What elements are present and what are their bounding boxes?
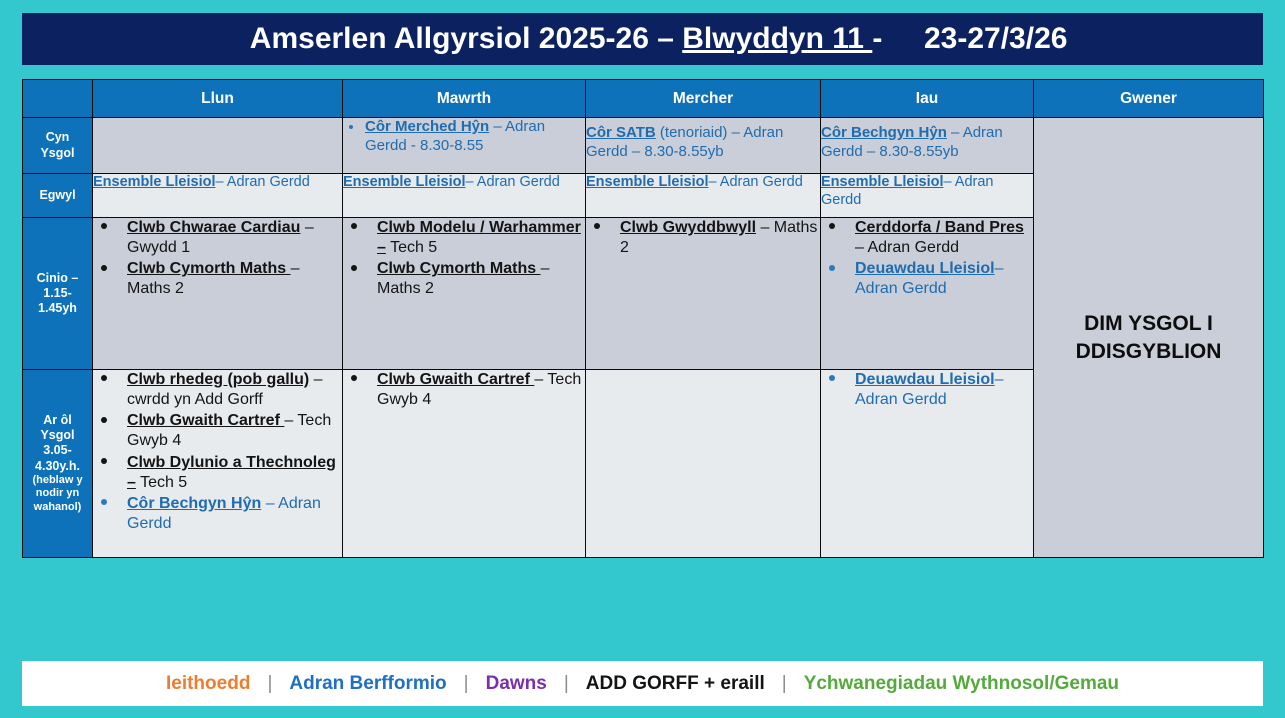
cell-ar-ol-ysgol-monday[interactable]: Clwb rhedeg (pob gallu) – cwrdd yn Add G… [93,370,343,558]
activity-name: Deuawdau Lleisiol [855,260,995,277]
activity-name: Ensemble Lleisiol [821,174,944,190]
cell-egwyl-thursday[interactable]: Ensemble Lleisiol– Adran Gerdd [821,174,1034,218]
bullet-icon [101,265,107,271]
list-item[interactable]: Clwb Gwyddbwyll – Maths 2 [586,218,820,258]
activity-name: Clwb Gwaith Cartref [377,371,534,388]
list-item[interactable]: Côr Merched Hŷn – Adran Gerdd - 8.30-8.5… [343,118,585,156]
cell-ar-ol-ysgol-thursday[interactable]: Deuawdau Lleisiol– Adran Gerdd [821,370,1034,558]
title-part-2: - [872,22,890,55]
timetable: Llun Mawrth Mercher Iau Gwener Cyn Ysgol… [22,79,1264,558]
activity-name: Côr Bechgyn Hŷn [821,124,947,141]
activity-detail: – Adran Gerdd [216,174,310,190]
row-label-line: Ar ôl [23,413,92,428]
list-item[interactable]: Clwb rhedeg (pob gallu) – cwrdd yn Add G… [93,370,342,410]
row-label-line: Ysgol [23,146,92,161]
activity-list: Côr Merched Hŷn – Adran Gerdd - 8.30-8.5… [343,118,585,156]
list-item[interactable]: Deuawdau Lleisiol– Adran Gerdd [821,370,1033,410]
cell-ar-ol-ysgol-wednesday[interactable] [586,370,821,558]
page-title: Amserlen Allgyrsiol 2025-26 – Blwyddyn 1… [218,0,1068,90]
title-year-group: Blwyddyn 11 [682,22,872,55]
activity-name: Clwb Cymorth Maths [127,260,291,277]
bullet-icon [351,375,357,381]
row-label-note-line: (heblaw y [23,474,92,487]
activity-list: Clwb Chwarae Cardiau – Gwydd 1 Clwb Cymo… [93,218,342,300]
row-label-line: 1.15- [23,286,92,301]
activity-list: Clwb Gwyddbwyll – Maths 2 [586,218,820,258]
bullet-icon [351,265,357,271]
header-corner-blank [23,80,93,118]
cell-egwyl-monday[interactable]: Ensemble Lleisiol– Adran Gerdd [93,174,343,218]
cell-egwyl-tuesday[interactable]: Ensemble Lleisiol– Adran Gerdd [343,174,586,218]
cell-egwyl-wednesday[interactable]: Ensemble Lleisiol– Adran Gerdd [586,174,821,218]
bullet-icon [101,458,107,464]
cell-friday-no-school: DIM YSGOL I DDISGYBLION [1034,118,1264,558]
page-title-bar: Amserlen Allgyrsiol 2025-26 – Blwyddyn 1… [22,13,1263,65]
bullet-icon [349,125,353,129]
bullet-icon [829,265,835,271]
activity-entry[interactable]: Ensemble Lleisiol– Adran Gerdd [343,174,585,192]
bullet-icon [101,499,107,505]
legend-item-ychwanegiadau[interactable]: Ychwanegiadau Wythnosol/Gemau [804,673,1119,695]
cell-cyn-ysgol-tuesday[interactable]: Côr Merched Hŷn – Adran Gerdd - 8.30-8.5… [343,118,586,174]
cell-cinio-monday[interactable]: Clwb Chwarae Cardiau – Gwydd 1 Clwb Cymo… [93,218,343,370]
activity-detail: – Adran Gerdd [466,174,560,190]
bullet-icon [594,223,600,229]
column-header-monday: Llun [93,80,343,118]
bullet-icon [101,375,107,381]
activity-entry[interactable]: Ensemble Lleisiol– Adran Gerdd [586,174,820,192]
row-label-line: Cyn [23,130,92,145]
row-label-line: Egwyl [23,188,92,203]
list-item[interactable]: Clwb Cymorth Maths – Maths 2 [343,259,585,299]
list-item[interactable]: Côr Bechgyn Hŷn – Adran Gerdd [93,494,342,534]
friday-note-line: DDISGYBLION [1034,338,1263,366]
timetable-container: Llun Mawrth Mercher Iau Gwener Cyn Ysgol… [22,79,1263,558]
table-header-row: Llun Mawrth Mercher Iau Gwener [23,80,1264,118]
friday-note-line: DIM YSGOL I [1034,310,1263,338]
activity-detail: Tech 5 [136,474,187,491]
row-label-cyn-ysgol: Cyn Ysgol [23,118,93,174]
activity-entry[interactable]: Ensemble Lleisiol– Adran Gerdd [93,174,342,192]
bullet-icon [829,375,835,381]
list-item[interactable]: Cerddorfa / Band Pres – Adran Gerdd [821,218,1033,258]
activity-name: Cerddorfa / Band Pres [855,219,1024,236]
list-item[interactable]: Clwb Chwarae Cardiau – Gwydd 1 [93,218,342,258]
activity-list: Cerddorfa / Band Pres – Adran Gerdd Deua… [821,218,1033,300]
activity-name: Clwb Cymorth Maths [377,260,541,277]
bullet-icon [101,223,107,229]
activity-list: Clwb Modelu / Warhammer – Tech 5 Clwb Cy… [343,218,585,300]
activity-name: Clwb Gwyddbwyll [620,219,756,236]
legend-item-dawns[interactable]: Dawns [486,673,547,695]
activity-name: Clwb Chwarae Cardiau [127,219,300,236]
legend-item-ieithoedd[interactable]: Ieithoedd [166,673,250,695]
bullet-icon [101,417,107,423]
table-row: Cyn Ysgol Côr Merched Hŷn – Adran Gerdd … [23,118,1264,174]
column-header-thursday: Iau [821,80,1034,118]
activity-name: Côr SATB [586,124,656,141]
title-part-1: Amserlen Allgyrsiol 2025-26 – [250,22,682,55]
cell-cinio-thursday[interactable]: Cerddorfa / Band Pres – Adran Gerdd Deua… [821,218,1034,370]
column-header-wednesday: Mercher [586,80,821,118]
row-label-line: 4.30y.h. [23,459,92,474]
activity-list: Deuawdau Lleisiol– Adran Gerdd [821,370,1033,410]
bullet-icon [829,223,835,229]
legend-bar: Ieithoedd | Adran Berfformio | Dawns | A… [22,661,1263,706]
row-label-line: 1.45yh [23,301,92,316]
list-item[interactable]: Clwb Gwaith Cartref – Tech Gwyb 4 [93,411,342,451]
row-label-note-line: wahanol) [23,501,92,514]
cell-ar-ol-ysgol-tuesday[interactable]: Clwb Gwaith Cartref – Tech Gwyb 4 [343,370,586,558]
row-label-cinio: Cinio – 1.15- 1.45yh [23,218,93,370]
activity-name: Clwb Gwaith Cartref [127,412,284,429]
legend-separator: | [547,673,586,695]
activity-name: Ensemble Lleisiol [343,174,466,190]
column-header-tuesday: Mawrth [343,80,586,118]
activity-name: Clwb rhedeg (pob gallu) [127,371,309,388]
row-label-line: 3.05- [23,443,92,458]
list-item[interactable]: Clwb Dylunio a Thechnoleg – Tech 5 [93,453,342,493]
list-item[interactable]: Clwb Gwaith Cartref – Tech Gwyb 4 [343,370,585,410]
legend-separator: | [765,673,804,695]
column-header-friday: Gwener [1034,80,1264,118]
row-label-ar-ol-ysgol: Ar ôl Ysgol 3.05- 4.30y.h. (heblaw y nod… [23,370,93,558]
list-item[interactable]: Clwb Cymorth Maths – Maths 2 [93,259,342,299]
cell-cinio-wednesday[interactable]: Clwb Gwyddbwyll – Maths 2 [586,218,821,370]
bullet-icon [351,223,357,229]
activity-detail: – Adran Gerdd [855,239,959,256]
activity-name: Deuawdau Lleisiol [855,371,995,388]
cell-cyn-ysgol-thursday[interactable]: Côr Bechgyn Hŷn – Adran Gerdd – 8.30-8.5… [821,118,1034,174]
activity-name: Ensemble Lleisiol [586,174,709,190]
activity-list: Clwb Gwaith Cartref – Tech Gwyb 4 [343,370,585,410]
row-label-egwyl: Egwyl [23,174,93,218]
activity-entry[interactable]: Côr SATB (tenoriaid) – Adran Gerdd – 8.3… [586,124,820,161]
activity-detail: Tech 5 [386,239,437,256]
legend-separator: | [447,673,486,695]
activity-name: Ensemble Lleisiol [93,174,216,190]
legend-item-adran-berfformio[interactable]: Adran Berfformio [289,673,446,695]
activity-name: Côr Merched Hŷn [365,118,489,135]
row-label-line: Ysgol [23,428,92,443]
activity-entry[interactable]: Côr Bechgyn Hŷn – Adran Gerdd – 8.30-8.5… [821,124,1033,161]
activity-name: Côr Bechgyn Hŷn [127,495,261,512]
row-label-line: Cinio – [23,271,92,286]
legend-separator: | [250,673,289,695]
title-date-range: 23-27/3/26 [891,22,1068,55]
cell-cyn-ysgol-wednesday[interactable]: Côr SATB (tenoriaid) – Adran Gerdd – 8.3… [586,118,821,174]
cell-cinio-tuesday[interactable]: Clwb Modelu / Warhammer – Tech 5 Clwb Cy… [343,218,586,370]
activity-detail: – Adran Gerdd [709,174,803,190]
row-label-note-line: nodir yn [23,487,92,500]
cell-cyn-ysgol-monday[interactable] [93,118,343,174]
list-item[interactable]: Clwb Modelu / Warhammer – Tech 5 [343,218,585,258]
activity-list: Clwb rhedeg (pob gallu) – cwrdd yn Add G… [93,370,342,534]
activity-entry[interactable]: Ensemble Lleisiol– Adran Gerdd [821,174,1033,210]
legend-item-add-gorff[interactable]: ADD GORFF + eraill [586,673,765,695]
list-item[interactable]: Deuawdau Lleisiol– Adran Gerdd [821,259,1033,299]
